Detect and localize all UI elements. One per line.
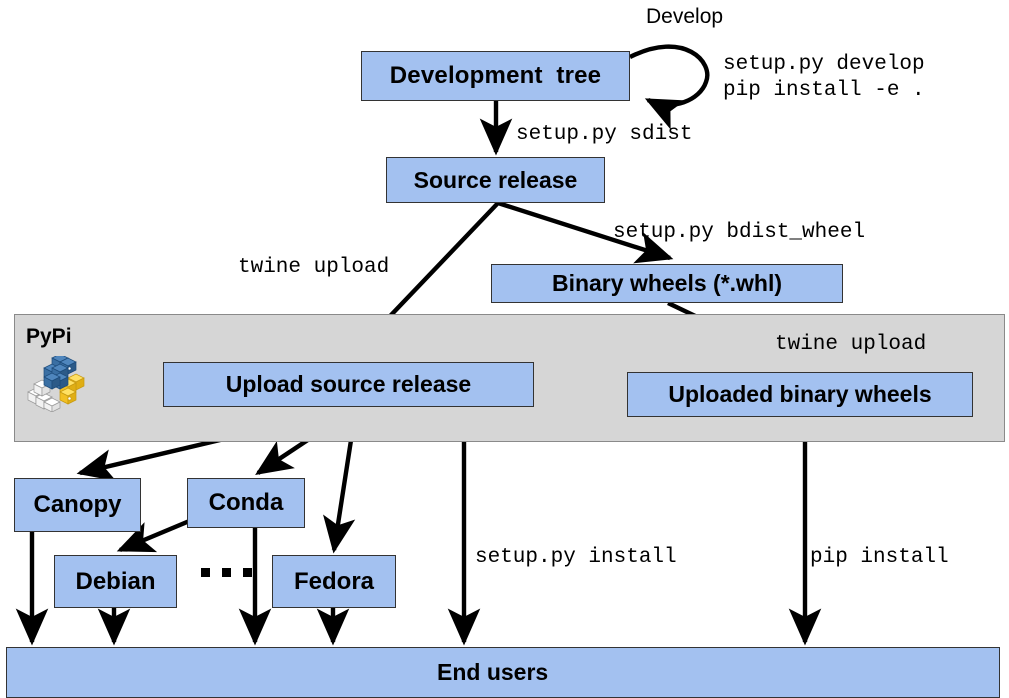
node-canopy-label: Canopy [33, 493, 121, 517]
edge-label-pip-install: pip install [810, 545, 949, 571]
python-cubes-logo-icon [26, 356, 90, 412]
node-end-users-label: End users [437, 661, 548, 684]
node-end-users[interactable]: End users [6, 647, 1000, 698]
node-fedora[interactable]: Fedora [272, 555, 396, 608]
node-canopy[interactable]: Canopy [14, 478, 141, 532]
edge-label-develop-commands: setup.py develop pip install -e . [723, 52, 925, 104]
node-development-tree[interactable]: Development tree [361, 51, 630, 101]
ellipsis-dot [243, 568, 252, 577]
node-uploaded-binary-wheels-label: Uploaded binary wheels [668, 383, 931, 406]
node-development-tree-label: Development tree [390, 64, 601, 88]
node-uploaded-binary-wheels[interactable]: Uploaded binary wheels [627, 372, 973, 417]
node-binary-wheels[interactable]: Binary wheels (*.whl) [491, 264, 843, 303]
edge-develop-loop [630, 47, 707, 105]
node-upload-source-release[interactable]: Upload source release [163, 362, 534, 407]
diagram-canvas: PyPi [0, 0, 1009, 698]
node-source-release[interactable]: Source release [386, 157, 605, 203]
node-source-release-label: Source release [414, 169, 578, 192]
ellipsis-dot [201, 568, 210, 577]
node-debian-label: Debian [75, 570, 155, 594]
node-conda[interactable]: Conda [187, 478, 305, 528]
edge-label-setup-install: setup.py install [475, 545, 677, 571]
edge-label-twine-upload-wheels: twine upload [775, 332, 926, 358]
edge-label-develop: Develop [646, 4, 723, 30]
node-binary-wheels-label: Binary wheels (*.whl) [552, 272, 782, 295]
edge-label-sdist: setup.py sdist [516, 122, 692, 148]
ellipsis-dot [222, 568, 231, 577]
node-fedora-label: Fedora [294, 570, 374, 594]
ellipsis-dots [201, 568, 252, 577]
node-conda-label: Conda [209, 491, 284, 515]
pypi-label: PyPi [26, 325, 72, 349]
edge-label-twine-upload-source: twine upload [238, 255, 389, 281]
node-debian[interactable]: Debian [54, 555, 177, 608]
edge-label-bdist-wheel: setup.py bdist_wheel [613, 220, 865, 246]
node-upload-source-release-label: Upload source release [226, 373, 471, 396]
